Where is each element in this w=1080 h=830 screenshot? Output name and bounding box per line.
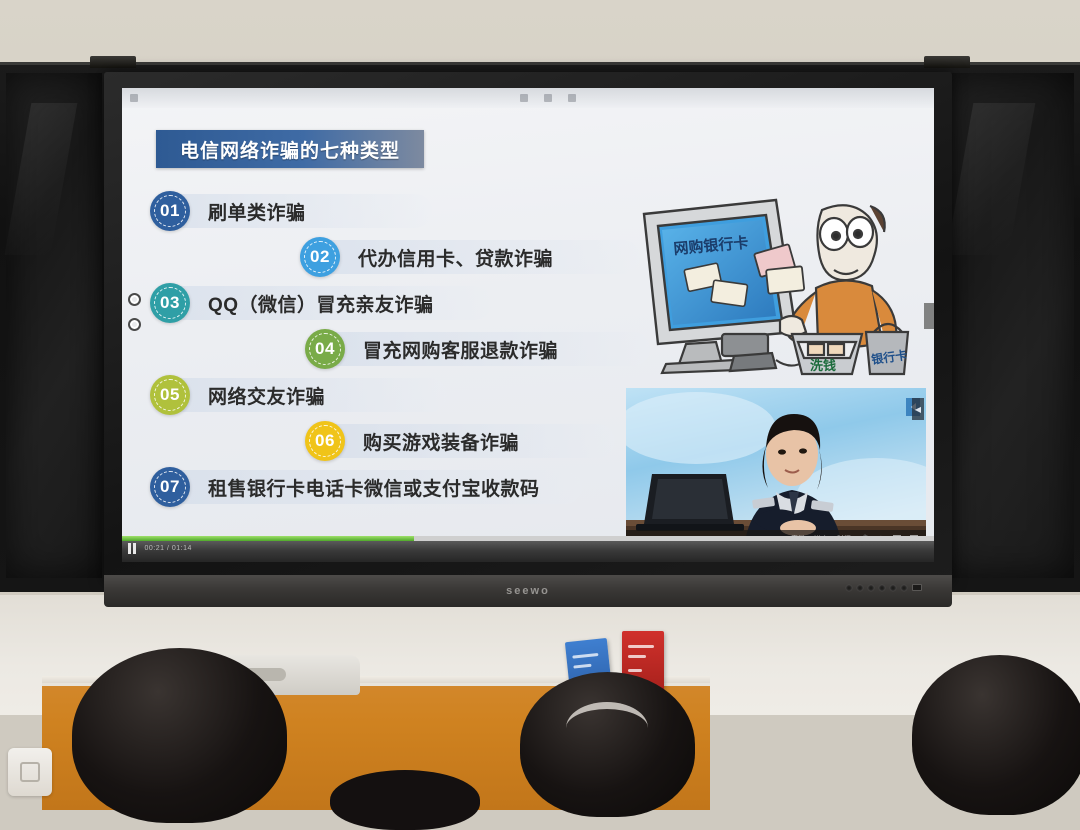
hdmi-port-icon[interactable] [890, 585, 896, 591]
playbar-time: 00:21 / 01:14 [145, 545, 192, 552]
student-head [330, 770, 480, 830]
board-clip-right [924, 56, 970, 68]
slide-title-bar: 电信网络诈骗的七种类型 [156, 130, 424, 168]
list-item-number: 06 [305, 421, 345, 461]
student-head [72, 648, 287, 823]
list-item-label: 网络交友诈骗 [208, 382, 325, 409]
audio-port-icon[interactable] [901, 585, 907, 591]
pause-icon[interactable] [128, 543, 136, 554]
progress-track[interactable] [122, 536, 934, 541]
list-item-number: 05 [150, 375, 190, 415]
pen-icon[interactable] [520, 94, 528, 102]
progress-fill [122, 536, 414, 541]
list-item-number: 01 [150, 191, 190, 231]
display-port-row[interactable] [846, 584, 922, 591]
display-brand-logo: seewo [506, 585, 550, 597]
ppt-toolbar[interactable] [122, 88, 934, 108]
board-clip-left [90, 56, 136, 68]
list-item-label: 租售银行卡电话卡微信或支付宝收款码 [208, 474, 540, 501]
settings-icon[interactable] [128, 318, 141, 331]
fraud-type-list: 01 刷单类诈骗 02 代办信用卡、贷款诈骗 03 QQ（微信）冒充亲友诈骗 0… [150, 188, 650, 510]
list-item-number: 03 [150, 283, 190, 323]
eraser-icon[interactable] [544, 94, 552, 102]
display-bottom-bezel: seewo [104, 575, 952, 607]
presentation-screen[interactable]: 电信网络诈骗的七种类型 01 刷单类诈骗 02 代办信用卡、贷款诈骗 03 QQ… [122, 88, 934, 562]
select-icon[interactable] [568, 94, 576, 102]
blackboard-panel-right [944, 73, 1074, 578]
usb-port-icon[interactable] [857, 585, 863, 591]
video-collapse-button[interactable]: ◀ [912, 398, 924, 420]
list-item[interactable]: 01 刷单类诈骗 [150, 188, 650, 234]
list-item-label: 购买游戏装备诈骗 [363, 428, 519, 455]
wall-socket [8, 748, 52, 796]
slide-side-tab[interactable] [924, 303, 934, 329]
list-item[interactable]: 07 租售银行卡电话卡微信或支付宝收款码 [150, 464, 650, 510]
list-item-number: 04 [305, 329, 345, 369]
list-item-label: 刷单类诈骗 [208, 198, 306, 225]
list-item[interactable]: 04 冒充网购客服退款诈骗 [150, 326, 650, 372]
socket-hole-icon [20, 762, 40, 782]
glare-highlight [946, 103, 1035, 255]
list-item-label: 代办信用卡、贷款诈骗 [358, 244, 553, 271]
basin-text: 洗钱 [810, 358, 836, 373]
usb-port-icon[interactable] [868, 585, 874, 591]
slide-edge-icons[interactable] [128, 293, 141, 331]
usb-slot-icon[interactable] [912, 584, 922, 591]
page-title: 电信网络诈骗的七种类型 [180, 136, 400, 163]
power-indicator-icon [846, 585, 852, 591]
list-item[interactable]: 02 代办信用卡、贷款诈骗 [150, 234, 650, 280]
rotate-icon[interactable] [128, 293, 141, 306]
list-item-label: 冒充网购客服退款诈骗 [363, 336, 558, 363]
presentation-playbar[interactable]: 00:21 / 01:14 [122, 536, 934, 562]
police-briefing-video[interactable]: ◀ 音量 进度 时间 🔊 ⚙ [626, 388, 926, 548]
list-item[interactable]: 05 网络交友诈骗 [150, 372, 650, 418]
blackboard-panel-left [6, 73, 102, 578]
list-item-number: 02 [300, 237, 340, 277]
student-head [912, 655, 1080, 815]
list-item-number: 07 [150, 467, 190, 507]
list-item-label: QQ（微信）冒充亲友诈骗 [208, 290, 434, 317]
list-item[interactable]: 03 QQ（微信）冒充亲友诈骗 [150, 280, 650, 326]
student-head [520, 672, 695, 817]
usb-port-icon[interactable] [879, 585, 885, 591]
glare-highlight [4, 103, 77, 255]
list-item[interactable]: 06 购买游戏装备诈骗 [150, 418, 650, 464]
bank-card-laundering-cartoon: 网购银行卡 [626, 192, 926, 382]
menu-icon[interactable] [130, 94, 138, 102]
classroom-scene: 电信网络诈骗的七种类型 01 刷单类诈骗 02 代办信用卡、贷款诈骗 03 QQ… [0, 0, 1080, 810]
